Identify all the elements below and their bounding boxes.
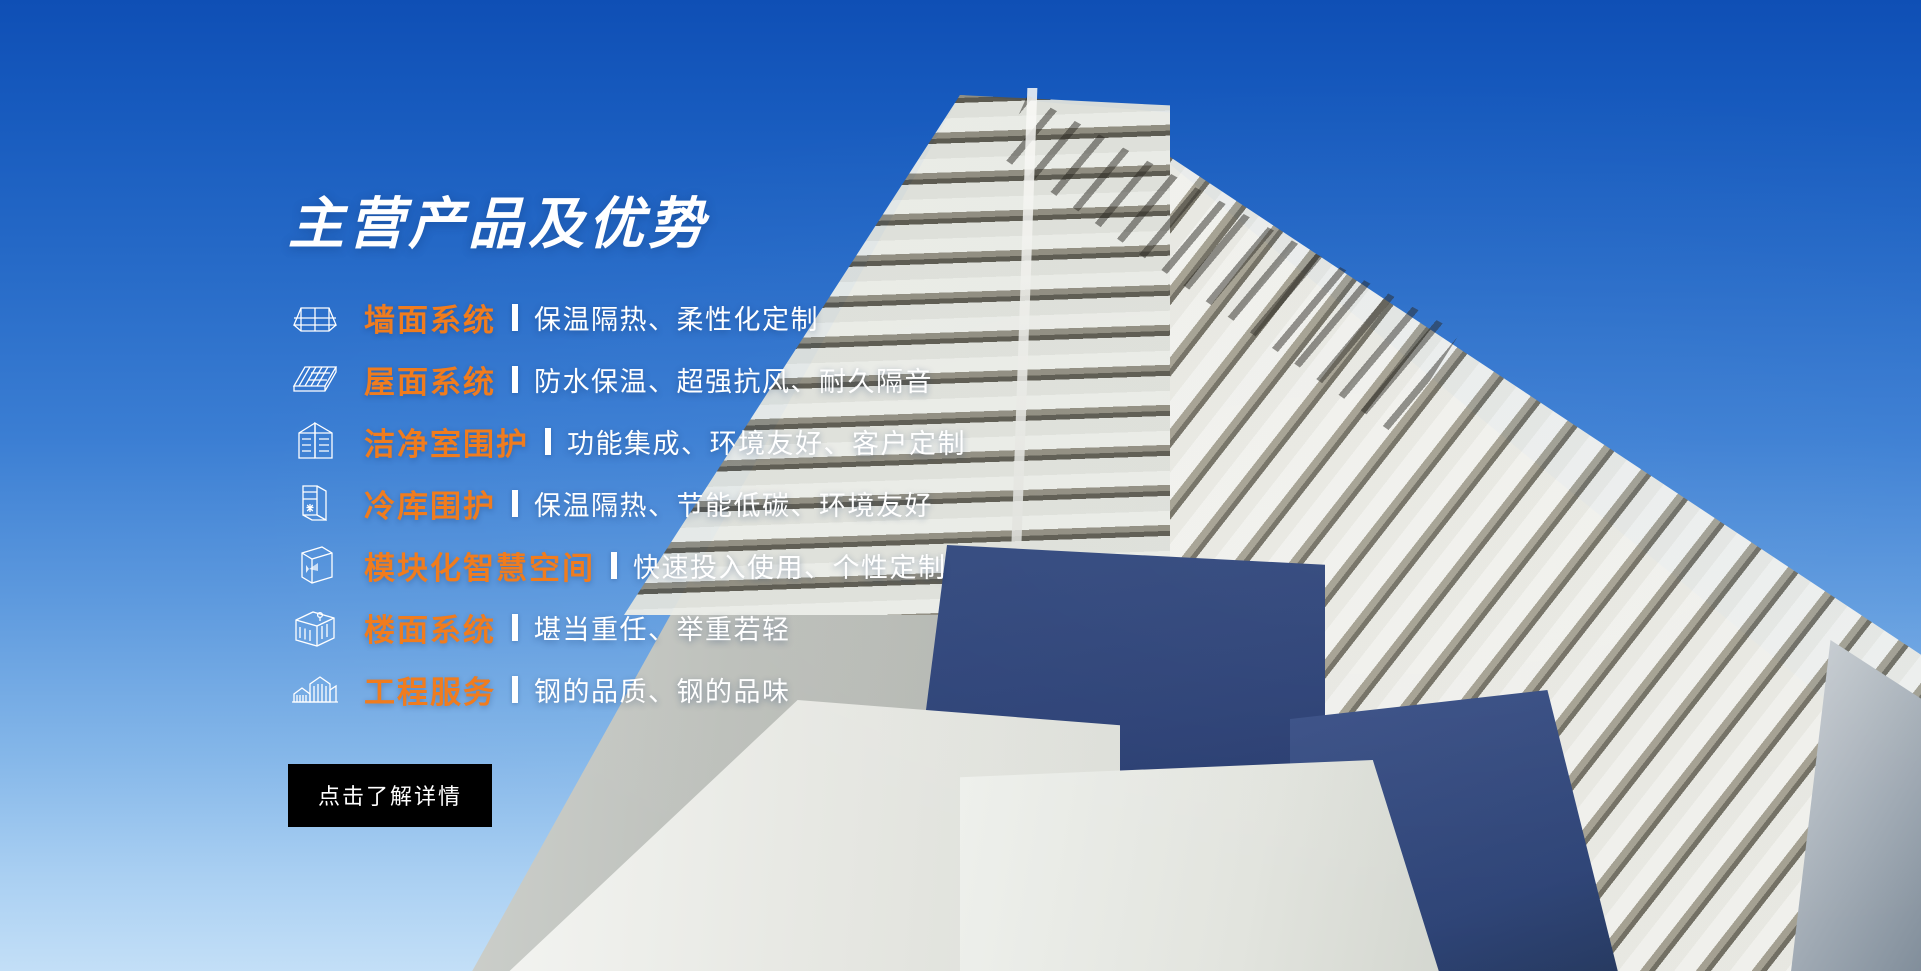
engineering-service-icon — [288, 667, 342, 711]
product-row-cleanroom[interactable]: 洁净室围护 功能集成、环境友好、客户定制 — [288, 410, 1438, 472]
product-desc: 堪当重任、举重若轻 — [534, 608, 791, 647]
product-desc: 快速投入使用、个性定制 — [633, 546, 947, 585]
product-name: 冷库围护 — [364, 481, 496, 526]
product-row-cold-storage[interactable]: 冷库围护 保温隔热、节能低碳、环境友好 — [288, 472, 1438, 534]
product-name: 墙面系统 — [364, 295, 496, 340]
product-name: 模块化智慧空间 — [364, 543, 595, 588]
product-name: 屋面系统 — [364, 357, 496, 402]
modular-space-icon — [288, 543, 342, 587]
product-row-floor-system[interactable]: 楼面系统 堪当重任、举重若轻 — [288, 596, 1438, 658]
separator-bar — [512, 676, 518, 703]
separator-bar — [512, 366, 518, 393]
wall-system-icon — [288, 295, 342, 339]
separator-bar — [512, 614, 518, 641]
product-row-roof-system[interactable]: 屋面系统 防水保温、超强抗风、耐久隔音 — [288, 348, 1438, 410]
product-row-engineering-service[interactable]: 工程服务 钢的品质、钢的品味 — [288, 658, 1438, 720]
hero-banner: 主营产品及优势 墙面系统 保温隔热、柔性化定制 — [0, 0, 1921, 971]
product-name: 楼面系统 — [364, 605, 496, 650]
hero-content: 主营产品及优势 墙面系统 保温隔热、柔性化定制 — [288, 196, 1438, 827]
floor-system-icon — [288, 605, 342, 649]
cleanroom-icon — [288, 419, 342, 463]
product-desc: 功能集成、环境友好、客户定制 — [567, 422, 966, 461]
learn-more-button[interactable]: 点击了解详情 — [288, 764, 492, 827]
product-desc: 防水保温、超强抗风、耐久隔音 — [534, 360, 933, 399]
product-desc: 保温隔热、柔性化定制 — [534, 298, 819, 337]
cold-storage-icon — [288, 481, 342, 525]
product-row-modular-space[interactable]: 模块化智慧空间 快速投入使用、个性定制 — [288, 534, 1438, 596]
separator-bar — [512, 304, 518, 331]
roof-system-icon — [288, 357, 342, 401]
separator-bar — [512, 490, 518, 517]
separator-bar — [611, 552, 617, 579]
building-far-right-sliver — [1790, 640, 1921, 971]
separator-bar — [545, 428, 551, 455]
product-name: 洁净室围护 — [364, 419, 529, 464]
product-desc: 保温隔热、节能低碳、环境友好 — [534, 484, 933, 523]
product-desc: 钢的品质、钢的品味 — [534, 670, 791, 709]
product-name: 工程服务 — [364, 667, 496, 712]
product-row-wall-system[interactable]: 墙面系统 保温隔热、柔性化定制 — [288, 286, 1438, 348]
page-title: 主营产品及优势 — [288, 196, 1438, 252]
